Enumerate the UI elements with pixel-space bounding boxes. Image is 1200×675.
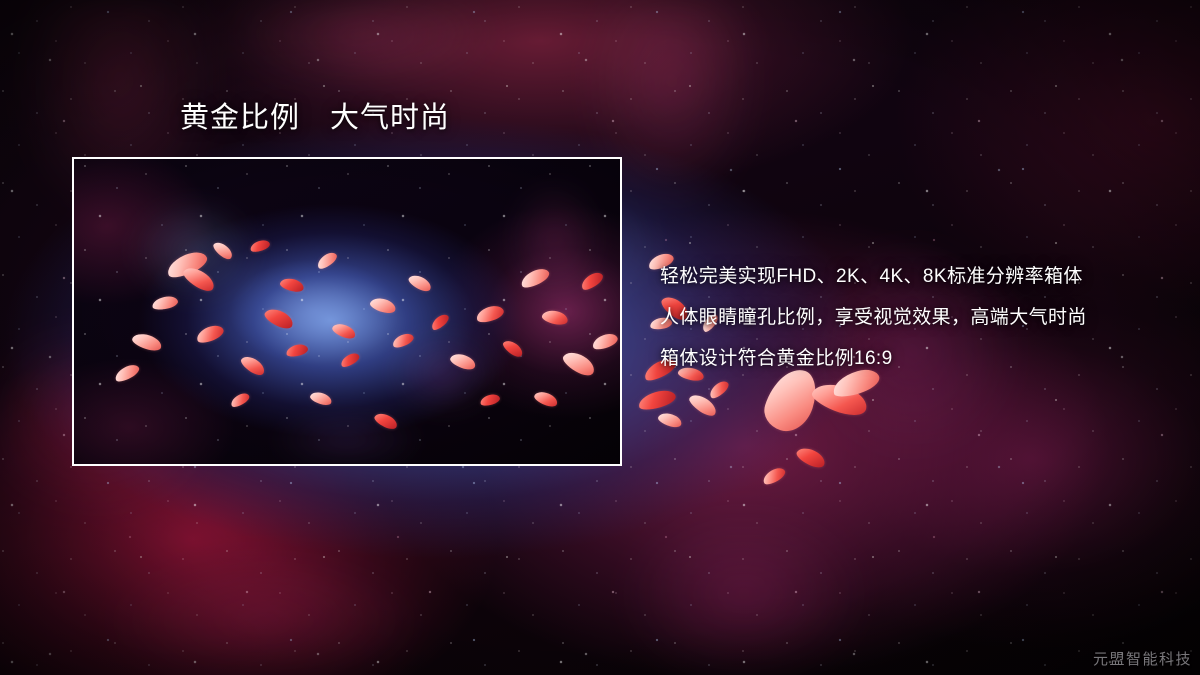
petal (707, 378, 731, 401)
petal (229, 391, 251, 410)
petal (339, 351, 361, 370)
panel-nebula-wisps (74, 159, 620, 464)
petal (475, 303, 506, 325)
petal (579, 269, 606, 292)
page-title: 黄金比例 大气时尚 (180, 101, 450, 135)
body-line-3: 箱体设计符合黄金比例16:9 (660, 338, 1160, 379)
petal (331, 321, 358, 341)
petal (369, 296, 398, 316)
petal (151, 294, 179, 311)
petal (131, 331, 164, 354)
petal (794, 444, 828, 471)
petal (285, 343, 309, 359)
petal (501, 338, 525, 360)
petal (761, 465, 788, 487)
petal (164, 247, 210, 281)
panel-nebula (74, 159, 620, 464)
petal (373, 410, 400, 431)
petal (533, 389, 560, 409)
petal (407, 272, 434, 294)
petal (315, 250, 339, 272)
petal (687, 391, 720, 419)
petal (194, 322, 225, 345)
petal (560, 348, 598, 380)
presentation-slide: 黄金比例 大气时尚 轻松完美实现FHD、2K、4K、8K标准分辨率箱体 人体眼睛… (0, 0, 1200, 675)
petal (262, 305, 296, 332)
petal (211, 239, 235, 262)
petal (449, 351, 478, 372)
body-line-2: 人体眼睛瞳孔比例，享受视觉效果，高端大气时尚 (660, 297, 1160, 338)
petal (541, 308, 569, 326)
watermark-label: 元盟智能科技 (1093, 648, 1192, 669)
petal (657, 411, 684, 430)
petal (809, 376, 871, 421)
petal (429, 312, 451, 333)
petal (591, 331, 620, 352)
body-text-block: 轻松完美实现FHD、2K、4K、8K标准分辨率箱体 人体眼睛瞳孔比例，享受视觉效… (660, 256, 1160, 379)
petal (239, 353, 268, 378)
petal (249, 238, 271, 254)
petal (637, 387, 678, 413)
petal (518, 265, 551, 291)
petal (391, 331, 416, 350)
panel-starfield (74, 159, 620, 464)
petal (479, 392, 501, 407)
galaxy-image-frame (72, 157, 622, 466)
petal (113, 362, 142, 385)
petal (180, 263, 217, 295)
petal (279, 276, 305, 293)
petal (309, 390, 333, 407)
body-line-1: 轻松完美实现FHD、2K、4K、8K标准分辨率箱体 (660, 256, 1160, 297)
